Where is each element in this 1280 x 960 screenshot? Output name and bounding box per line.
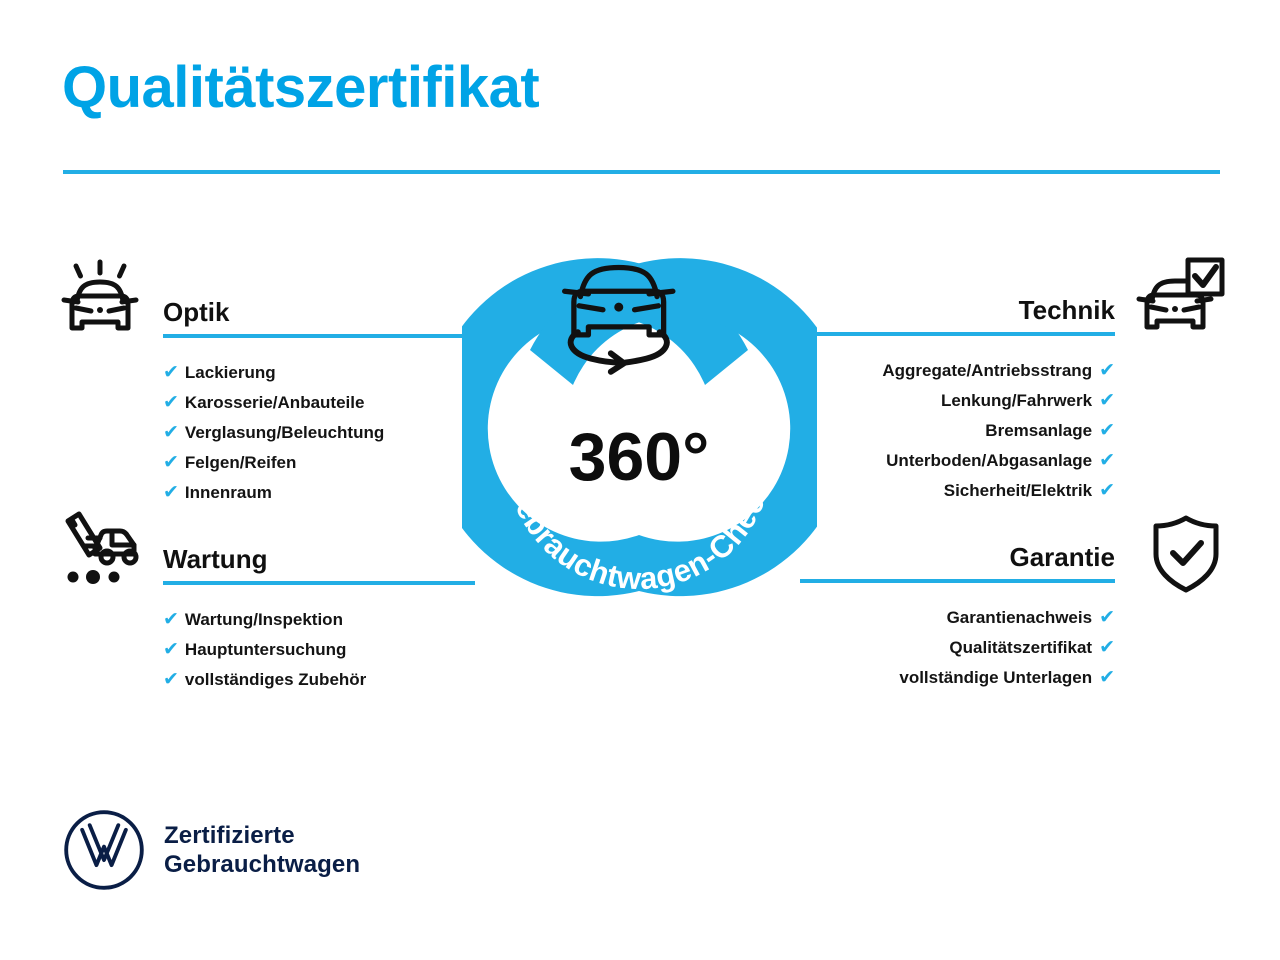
section-header-optik: Optik bbox=[163, 296, 475, 342]
list-item: Unterboden/Abgasanlage✔ bbox=[800, 446, 1115, 476]
list-item-label: Aggregate/Antriebsstrang bbox=[882, 356, 1092, 386]
list-item: ✔vollständiges Zubehör bbox=[163, 665, 475, 695]
list-item-label: Innenraum bbox=[185, 478, 272, 508]
list-item-label: vollständige Unterlagen bbox=[899, 663, 1092, 693]
check-icon: ✔ bbox=[1099, 386, 1115, 416]
check-icon: ✔ bbox=[1099, 356, 1115, 386]
list-item: ✔Wartung/Inspektion bbox=[163, 605, 475, 635]
check-icon: ✔ bbox=[1099, 603, 1115, 633]
certificate-page: Qualitätszertifikat bbox=[0, 0, 1280, 960]
shield-check-icon bbox=[1140, 508, 1232, 600]
check-icon: ✔ bbox=[163, 605, 179, 635]
list-item-label: Sicherheit/Elektrik bbox=[944, 476, 1092, 506]
badge-center-label: 360° bbox=[569, 419, 710, 495]
section-underline-technik bbox=[800, 332, 1115, 336]
check-icon: ✔ bbox=[163, 665, 179, 695]
section-header-garantie: Garantie bbox=[800, 541, 1115, 587]
check-icon: ✔ bbox=[1099, 446, 1115, 476]
check-icon: ✔ bbox=[1099, 416, 1115, 446]
list-item-label: Lenkung/Fahrwerk bbox=[941, 386, 1092, 416]
list-item: ✔Verglasung/Beleuchtung bbox=[163, 418, 475, 448]
list-item-label: Felgen/Reifen bbox=[185, 448, 296, 478]
section-optik: Optik✔Lackierung✔Karosserie/Anbauteile✔V… bbox=[163, 296, 475, 508]
list-item-label: Garantienachweis bbox=[947, 603, 1093, 633]
list-item: ✔Innenraum bbox=[163, 478, 475, 508]
vw-logo-text-line2: Gebrauchtwagen bbox=[164, 850, 360, 879]
list-item-label: Karosserie/Anbauteile bbox=[185, 388, 365, 418]
section-title-optik: Optik bbox=[163, 296, 475, 328]
header-divider bbox=[63, 170, 1220, 174]
vw-logo-text-line1: Zertifizierte bbox=[164, 821, 360, 850]
check-icon: ✔ bbox=[1099, 663, 1115, 693]
list-item-label: Bremsanlage bbox=[985, 416, 1092, 446]
section-underline-wartung bbox=[163, 581, 475, 585]
section-title-wartung: Wartung bbox=[163, 543, 475, 575]
checklist-garantie: Garantienachweis✔Qualitätszertifikat✔vol… bbox=[800, 603, 1115, 693]
check-icon: ✔ bbox=[1099, 633, 1115, 663]
360-check-badge: Gebrauchtwagen-Check 360° bbox=[462, 245, 817, 635]
section-title-garantie: Garantie bbox=[800, 541, 1115, 573]
checklist-technik: Aggregate/Antriebsstrang✔Lenkung/Fahrwer… bbox=[800, 356, 1115, 506]
list-item: Qualitätszertifikat✔ bbox=[800, 633, 1115, 663]
list-item: ✔Hauptuntersuchung bbox=[163, 635, 475, 665]
vw-logo-icon bbox=[62, 808, 146, 892]
list-item: ✔Lackierung bbox=[163, 358, 475, 388]
list-item: Aggregate/Antriebsstrang✔ bbox=[800, 356, 1115, 386]
list-item-label: Wartung/Inspektion bbox=[185, 605, 343, 635]
list-item: ✔Karosserie/Anbauteile bbox=[163, 388, 475, 418]
vw-logo-text: Zertifizierte Gebrauchtwagen bbox=[164, 821, 360, 879]
check-icon: ✔ bbox=[163, 388, 179, 418]
list-item-label: Lackierung bbox=[185, 358, 276, 388]
list-item: Bremsanlage✔ bbox=[800, 416, 1115, 446]
check-icon: ✔ bbox=[163, 448, 179, 478]
pen-car-service-icon bbox=[54, 505, 146, 597]
list-item: vollständige Unterlagen✔ bbox=[800, 663, 1115, 693]
section-technik: TechnikAggregate/Antriebsstrang✔Lenkung/… bbox=[800, 294, 1115, 506]
check-icon: ✔ bbox=[163, 418, 179, 448]
section-header-technik: Technik bbox=[800, 294, 1115, 340]
section-wartung: Wartung✔Wartung/Inspektion✔Hauptuntersuc… bbox=[163, 543, 475, 695]
list-item: Garantienachweis✔ bbox=[800, 603, 1115, 633]
section-title-technik: Technik bbox=[800, 294, 1115, 326]
check-icon: ✔ bbox=[163, 635, 179, 665]
checklist-wartung: ✔Wartung/Inspektion✔Hauptuntersuchung✔vo… bbox=[163, 605, 475, 695]
car-shine-icon bbox=[54, 256, 146, 348]
page-title: Qualitätszertifikat bbox=[62, 58, 539, 119]
check-icon: ✔ bbox=[163, 478, 179, 508]
list-item-label: Verglasung/Beleuchtung bbox=[185, 418, 384, 448]
check-icon: ✔ bbox=[163, 358, 179, 388]
list-item: ✔Felgen/Reifen bbox=[163, 448, 475, 478]
section-underline-garantie bbox=[800, 579, 1115, 583]
list-item: Lenkung/Fahrwerk✔ bbox=[800, 386, 1115, 416]
list-item-label: Unterboden/Abgasanlage bbox=[886, 446, 1092, 476]
section-underline-optik bbox=[163, 334, 475, 338]
check-icon: ✔ bbox=[1099, 476, 1115, 506]
vw-logo-lockup: Zertifizierte Gebrauchtwagen bbox=[62, 808, 360, 892]
section-garantie: GarantieGarantienachweis✔Qualitätszertif… bbox=[800, 541, 1115, 693]
car-checkbox-icon bbox=[1134, 254, 1226, 346]
section-header-wartung: Wartung bbox=[163, 543, 475, 589]
list-item-label: Qualitätszertifikat bbox=[949, 633, 1092, 663]
list-item: Sicherheit/Elektrik✔ bbox=[800, 476, 1115, 506]
list-item-label: vollständiges Zubehör bbox=[185, 665, 366, 695]
checklist-optik: ✔Lackierung✔Karosserie/Anbauteile✔Vergla… bbox=[163, 358, 475, 508]
list-item-label: Hauptuntersuchung bbox=[185, 635, 347, 665]
